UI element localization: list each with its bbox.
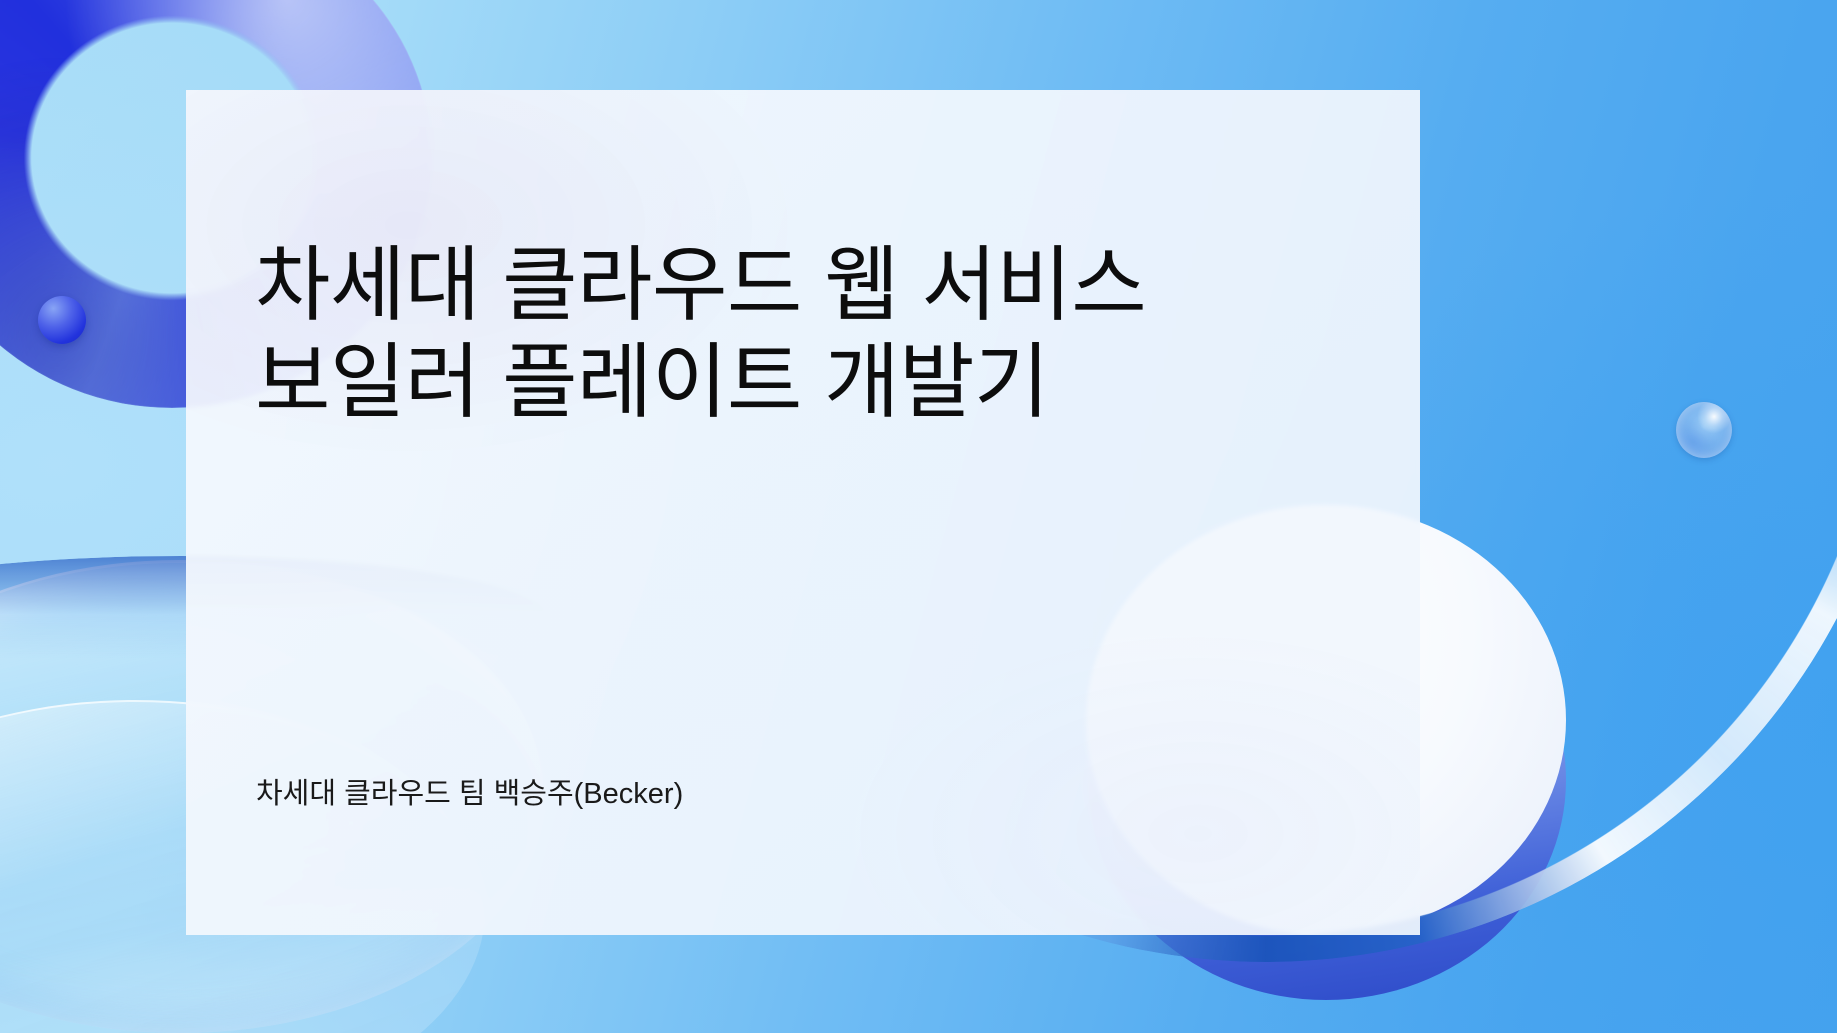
presentation-slide: 차세대 클라우드 웹 서비스 보일러 플레이트 개발기 차세대 클라우드 팀 백… — [0, 0, 1837, 1033]
slide-subtitle: 차세대 클라우드 팀 백승주(Becker) — [256, 770, 683, 812]
slide-title: 차세대 클라우드 웹 서비스 보일러 플레이트 개발기 — [255, 238, 1335, 432]
title-card: 차세대 클라우드 웹 서비스 보일러 플레이트 개발기 차세대 클라우드 팀 백… — [186, 90, 1420, 935]
